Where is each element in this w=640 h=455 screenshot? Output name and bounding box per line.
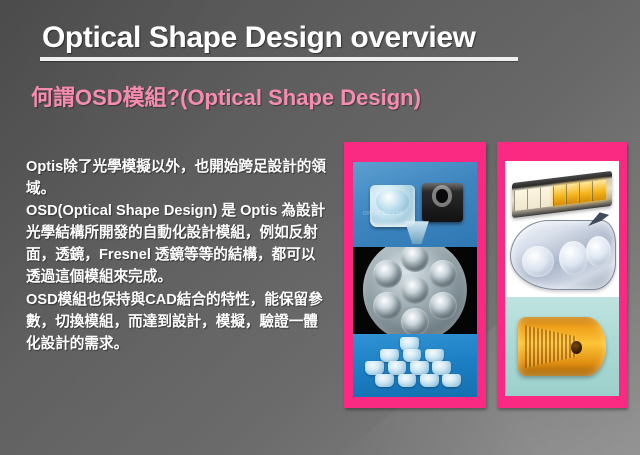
- small-conical-lens: [403, 221, 432, 244]
- picture-frame-right-inner: [505, 161, 619, 396]
- light-bar-segment-7-lit: [592, 180, 606, 202]
- picture-frame-optical-lenses: OPTIC CO.LTD: [344, 142, 486, 408]
- lens-cell-6: [373, 260, 401, 288]
- fresnel-prism-pattern: [525, 325, 577, 368]
- light-bar-segment-2: [527, 188, 541, 210]
- title-underline-rule: [40, 57, 518, 61]
- headlamp-reflector-1: [522, 246, 553, 277]
- lens-center-hub: [571, 341, 583, 354]
- lens-cell-3: [429, 292, 457, 320]
- mini-lens-9: [375, 374, 394, 387]
- mini-lens-4: [425, 349, 444, 362]
- photo-collimator-lens-and-black-housing: OPTIC CO.LTD: [353, 162, 477, 247]
- mini-lens-5: [365, 361, 384, 374]
- light-bar-segment-4-lit: [553, 185, 567, 207]
- photo-amber-turn-signal-lens: [505, 297, 619, 396]
- mini-lens-3: [403, 349, 422, 362]
- picture-frame-left-inner: OPTIC CO.LTD: [353, 162, 477, 397]
- lens-cell-1: [401, 247, 429, 273]
- light-bar-segment-5-lit: [566, 183, 580, 205]
- body-text-block: Optis除了光學模擬以外，也開始跨足設計的領域。 OSD(Optical Sh…: [26, 156, 326, 355]
- lens-cell-5: [373, 292, 401, 320]
- car-headlamp-assembly: [510, 220, 617, 290]
- light-bar-segment-3: [540, 186, 554, 208]
- headlamp-reflector-3: [586, 236, 611, 267]
- mini-lens-11: [420, 374, 439, 387]
- slide-title: Optical Shape Design overview: [42, 21, 476, 55]
- led-light-bar: [512, 171, 612, 219]
- mini-lens-2: [380, 349, 399, 362]
- body-paragraph-3: OSD模組也保持與CAD結合的特性，能保留參數，切換模組，而達到設計，模擬，驗證…: [26, 289, 326, 355]
- mini-lens-6: [388, 361, 407, 374]
- mini-lens-8: [432, 361, 451, 374]
- picture-frame-automotive-lighting: [497, 142, 627, 408]
- circular-lens-disc: [363, 247, 467, 334]
- lens-cell-4: [401, 308, 429, 334]
- presentation-slide: Optical Shape Design overview 何謂OSD模組?(O…: [0, 0, 640, 455]
- headlamp-mounting-bracket: [588, 212, 609, 226]
- photo-watermark: OPTIC CO.LTD: [363, 211, 404, 217]
- light-bar-segment-1: [514, 189, 528, 211]
- photo-led-light-bar-and-headlamp: [505, 161, 619, 297]
- photo-seven-cell-circular-lens-array: [353, 247, 477, 334]
- photo-multiple-led-lens-array: [353, 334, 477, 397]
- slide-subtitle: 何謂OSD模組?(Optical Shape Design): [31, 80, 421, 112]
- lens-cell-center: [401, 276, 429, 304]
- body-paragraph-1: Optis除了光學模擬以外，也開始跨足設計的領域。: [26, 156, 326, 200]
- body-paragraph-2: OSD(Optical Shape Design) 是 Optis 為設計光學結…: [26, 200, 326, 288]
- black-lens-housing: [422, 183, 463, 222]
- light-bar-segment-6-lit: [579, 181, 593, 203]
- headlamp-reflector-2: [559, 241, 588, 275]
- mini-lens-7: [410, 361, 429, 374]
- lens-cell-2: [429, 260, 457, 288]
- mini-lens-12: [442, 374, 461, 387]
- clear-collimator-lens: [370, 185, 415, 227]
- amber-turn-signal-lens: [518, 317, 607, 376]
- mini-lens-10: [398, 374, 417, 387]
